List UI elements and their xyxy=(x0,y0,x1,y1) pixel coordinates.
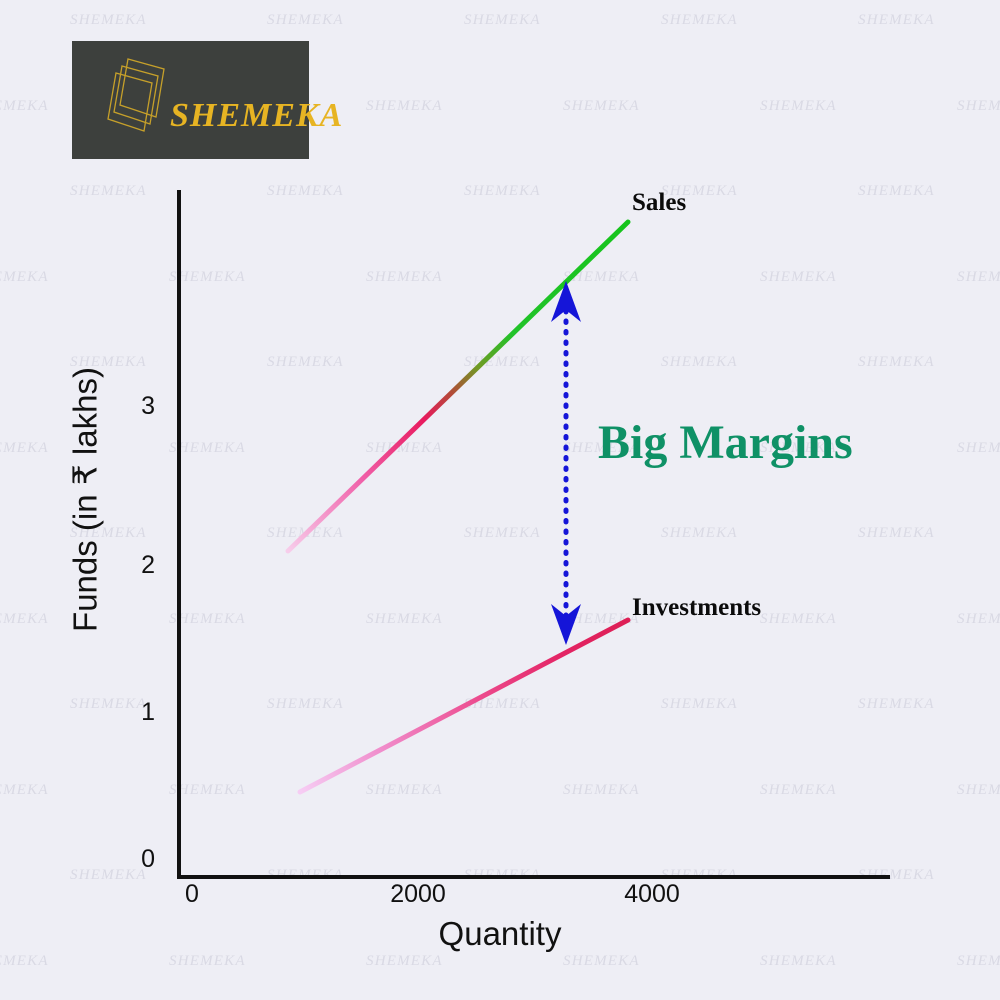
y-axis-title: Funds (in ₹ lakhs) xyxy=(66,350,105,650)
x-tick-label-4000: 4000 xyxy=(597,880,707,909)
y-tick-label-1: 1 xyxy=(115,698,155,727)
x-tick-label-0: 0 xyxy=(137,880,247,909)
big-margin-double-arrow xyxy=(551,281,581,645)
brand-logo-box: SHEMEKA xyxy=(72,41,309,159)
x-tick-label-2000: 2000 xyxy=(363,880,473,909)
big-margins-annotation: Big Margins xyxy=(598,415,853,470)
y-tick-label-2: 2 xyxy=(115,551,155,580)
y-tick-label-3: 3 xyxy=(115,392,155,421)
chart-canvas: SHEMEKASHEMEKASHEMEKASHEMEKASHEMEKASHEME… xyxy=(0,0,1000,1000)
x-axis-title: Quantity xyxy=(0,915,1000,953)
series-line-investments xyxy=(300,620,628,792)
y-tick-label-0: 0 xyxy=(115,845,155,874)
series-label-investments: Investments xyxy=(632,594,761,622)
series-line-sales xyxy=(288,222,628,551)
overlapping-quadrilaterals-logo-icon xyxy=(98,55,170,148)
brand-wordmark: SHEMEKA xyxy=(170,97,343,135)
series-label-sales: Sales xyxy=(632,189,686,217)
